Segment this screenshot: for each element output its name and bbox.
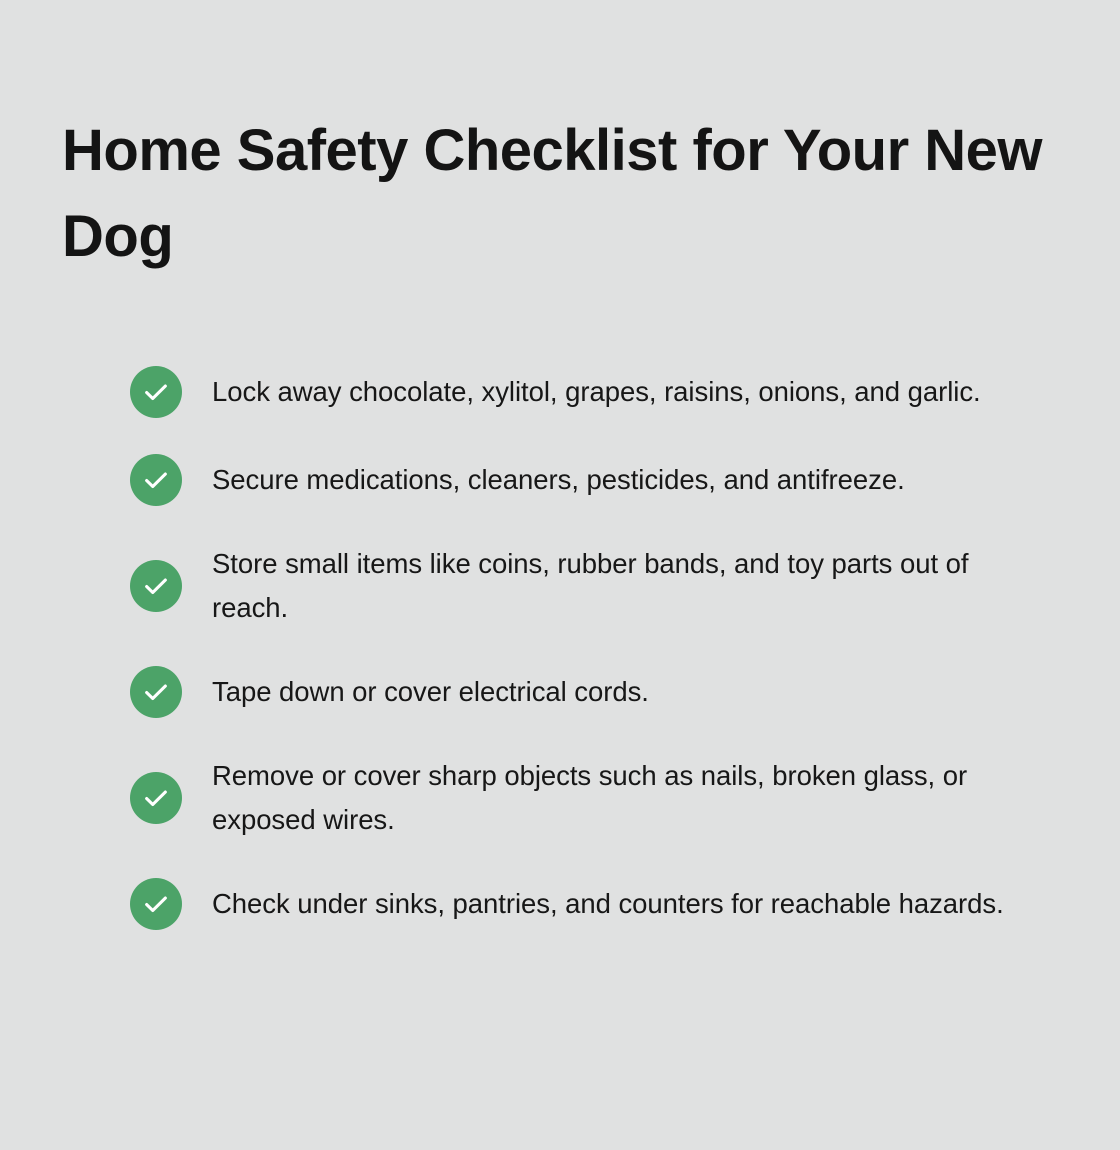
check-circle-icon <box>130 560 182 612</box>
list-item: Remove or cover sharp objects such as na… <box>130 754 1060 842</box>
list-item: Tape down or cover electrical cords. <box>130 666 1060 718</box>
list-item-label: Tape down or cover electrical cords. <box>212 670 1052 714</box>
list-item: Secure medications, cleaners, pesticides… <box>130 454 1060 506</box>
list-item: Check under sinks, pantries, and counter… <box>130 878 1060 930</box>
list-item: Lock away chocolate, xylitol, grapes, ra… <box>130 366 1060 418</box>
check-circle-icon <box>130 666 182 718</box>
checklist-page: Home Safety Checklist for Your New Dog L… <box>0 0 1120 1150</box>
check-circle-icon <box>130 878 182 930</box>
list-item-label: Lock away chocolate, xylitol, grapes, ra… <box>212 370 1052 414</box>
safety-checklist: Lock away chocolate, xylitol, grapes, ra… <box>130 366 1060 930</box>
list-item-label: Remove or cover sharp objects such as na… <box>212 754 1052 842</box>
list-item: Store small items like coins, rubber ban… <box>130 542 1060 630</box>
check-circle-icon <box>130 366 182 418</box>
check-circle-icon <box>130 454 182 506</box>
list-item-label: Store small items like coins, rubber ban… <box>212 542 1052 630</box>
list-item-label: Secure medications, cleaners, pesticides… <box>212 458 1052 502</box>
list-item-label: Check under sinks, pantries, and counter… <box>212 882 1052 926</box>
check-circle-icon <box>130 772 182 824</box>
page-title: Home Safety Checklist for Your New Dog <box>62 108 1062 280</box>
